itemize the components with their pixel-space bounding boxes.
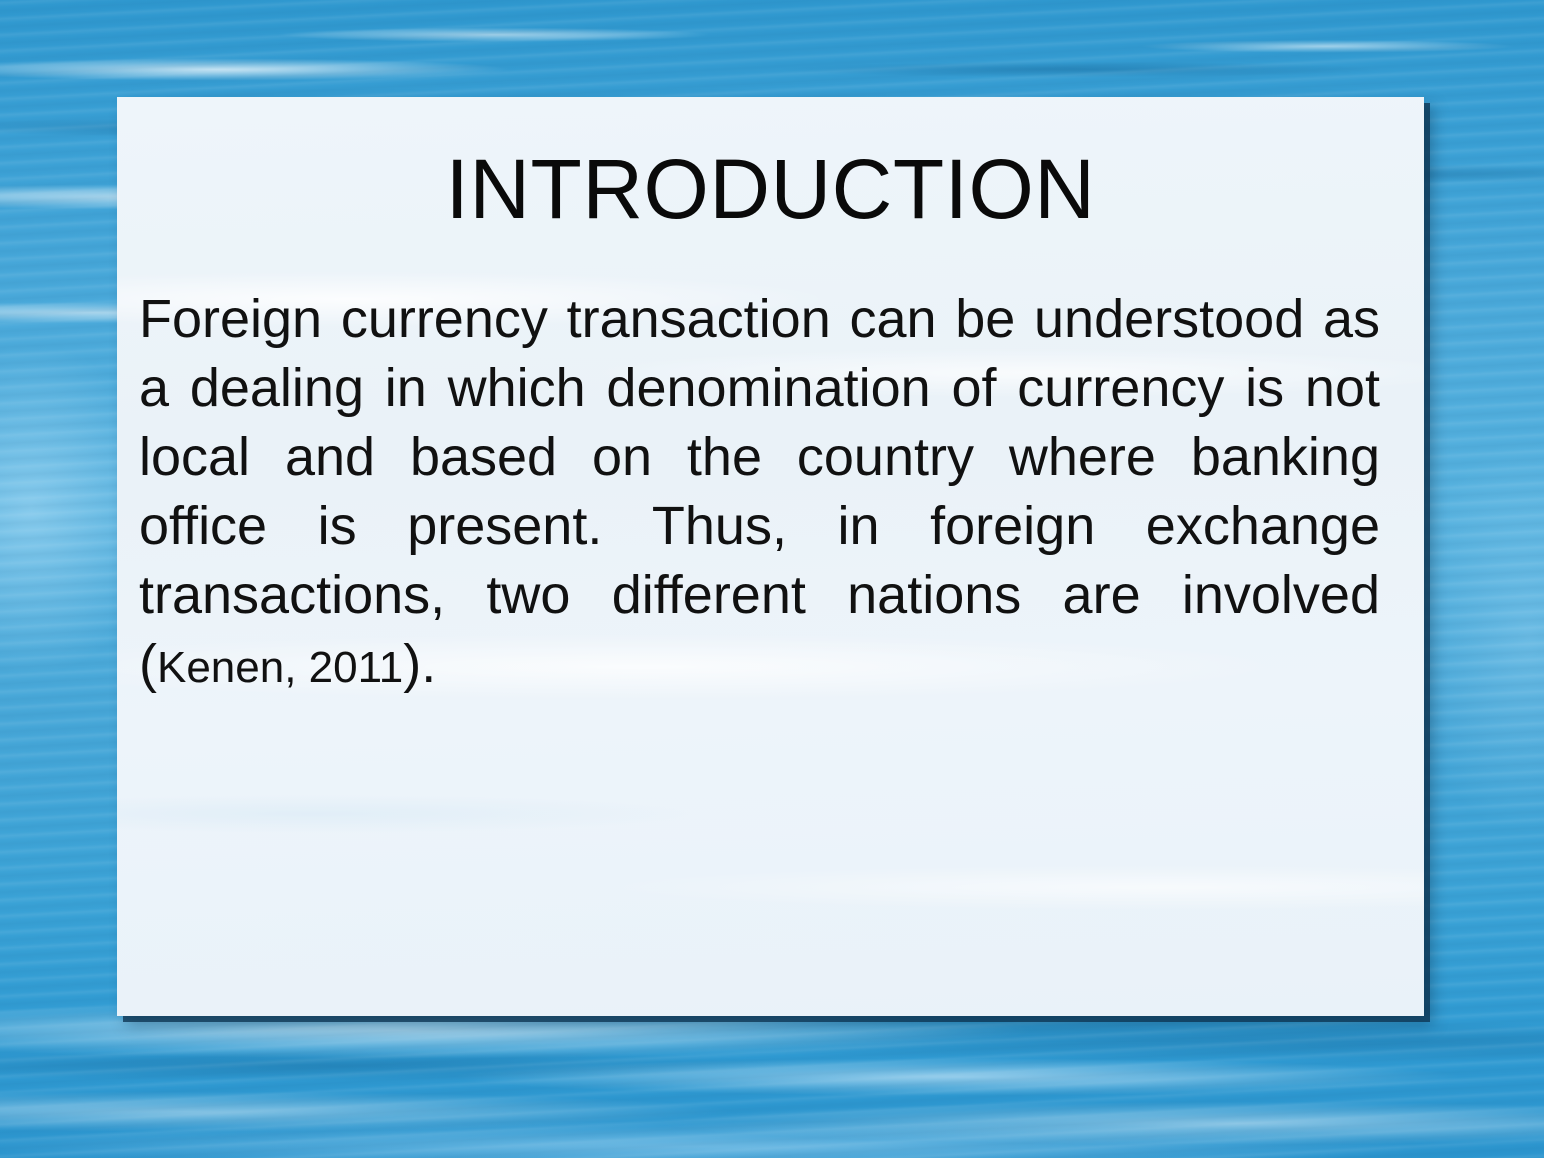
- slide-body-paragraph: Foreign currency transaction can be unde…: [139, 285, 1402, 702]
- slide-content-card: INTRODUCTION Foreign currency transactio…: [117, 97, 1424, 1016]
- body-text-main: Foreign currency transaction can be unde…: [139, 289, 1380, 694]
- page-title: INTRODUCTION: [139, 145, 1402, 233]
- body-text-tail: ).: [403, 634, 436, 694]
- citation-reference: Kenen, 2011: [157, 643, 403, 692]
- presentation-slide: INTRODUCTION Foreign currency transactio…: [0, 0, 1544, 1158]
